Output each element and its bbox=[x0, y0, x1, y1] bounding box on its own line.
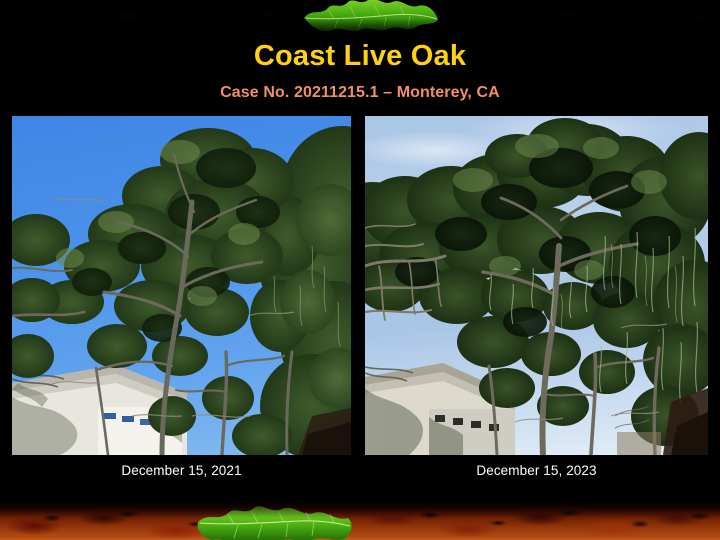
top-border-band bbox=[0, 0, 720, 40]
band-fade-top bbox=[0, 18, 720, 40]
photo-2021[interactable] bbox=[12, 116, 351, 455]
band-fade-bottom bbox=[0, 498, 720, 518]
case-subtitle: Case No. 20211215.1 – Monterey, CA bbox=[0, 85, 720, 101]
caption-2023: December 15, 2023 bbox=[365, 464, 708, 478]
caption-2021: December 15, 2021 bbox=[12, 464, 351, 478]
bottom-border-band bbox=[0, 498, 720, 540]
slide-root: Coast Live Oak Case No. 20211215.1 – Mon… bbox=[0, 0, 720, 540]
photo-2023[interactable] bbox=[365, 116, 708, 455]
oak-canopy-2023 bbox=[365, 116, 708, 455]
page-title: Coast Live Oak bbox=[0, 42, 720, 71]
oak-canopy-2021 bbox=[12, 116, 351, 455]
